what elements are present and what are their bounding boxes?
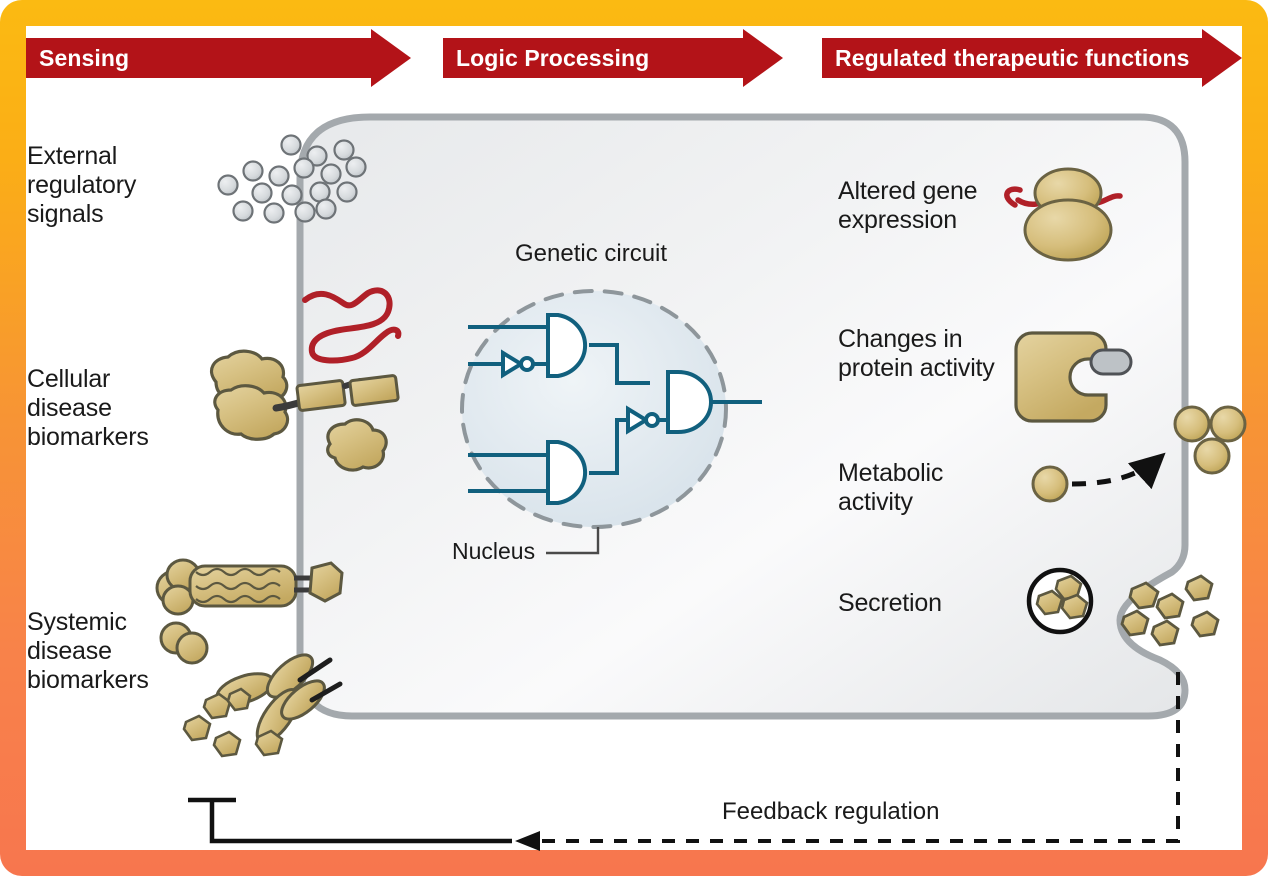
banner-logic-processing: Logic Processing (443, 38, 803, 78)
label-altered-gene-expression: Altered gene expression (838, 177, 977, 235)
banner-logic-label: Logic Processing (443, 45, 649, 72)
banner-outputs-arrowhead (1202, 29, 1242, 87)
label-secretion: Secretion (838, 589, 942, 618)
banner-outputs-label: Regulated therapeutic functions (822, 45, 1190, 72)
figure-root: Sensing Logic Processing Regulated thera… (0, 0, 1268, 876)
label-metabolic-activity: Metabolic activity (838, 459, 943, 517)
label-changes-in-protein-activity: Changes in protein activity (838, 325, 995, 383)
banner-regulated-functions: Regulated therapeutic functions (822, 38, 1242, 78)
banner-sensing: Sensing (26, 38, 431, 78)
label-feedback-regulation: Feedback regulation (722, 798, 939, 826)
diagram-artwork (0, 0, 1268, 876)
banner-sensing-label: Sensing (26, 45, 129, 72)
label-systemic-disease-biomarkers: Systemic disease biomarkers (27, 608, 149, 695)
label-genetic-circuit: Genetic circuit (515, 240, 667, 268)
label-cellular-disease-biomarkers: Cellular disease biomarkers (27, 365, 149, 452)
banner-logic-arrowhead (743, 29, 783, 87)
banner-sensing-arrowhead (371, 29, 411, 87)
label-external-regulatory-signals: External regulatory signals (27, 142, 136, 229)
label-nucleus: Nucleus (452, 538, 535, 565)
